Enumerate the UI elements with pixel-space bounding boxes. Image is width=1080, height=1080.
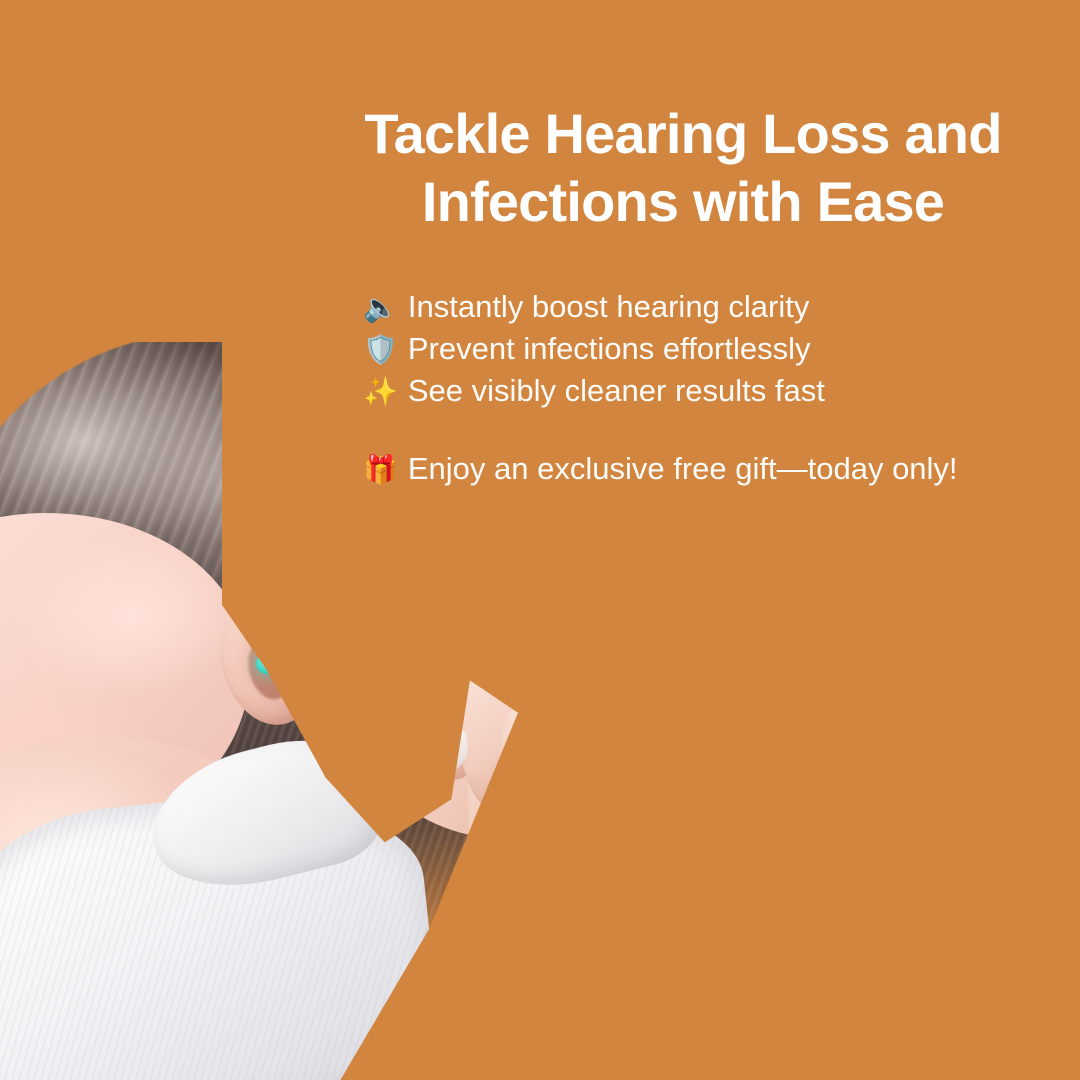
child-arm: [0, 705, 323, 1080]
benefit-text-2: Prevent infections effortlessly: [408, 328, 811, 369]
ad-copy-block: Tackle Hearing Loss and Infections with …: [363, 0, 1023, 1080]
benefit-item-3: ✨ See visibly cleaner results fast: [363, 370, 1003, 412]
benefit-text-1: Instantly boost hearing clarity: [408, 286, 810, 327]
child-face: [0, 492, 266, 862]
benefits-list: 🔈 Instantly boost hearing clarity 🛡️ Pre…: [363, 286, 1003, 412]
child-shirt-collar: [137, 722, 392, 906]
sparkles-icon: ✨: [363, 371, 398, 412]
offer-line: 🎁 Enjoy an exclusive free gift—today onl…: [363, 448, 1023, 491]
device-probe-led-tip: [254, 650, 283, 676]
benefit-item-2: 🛡️ Prevent infections effortlessly: [363, 328, 1003, 370]
headline: Tackle Hearing Loss and Infections with …: [363, 100, 1003, 236]
speaker-icon: 🔈: [363, 287, 398, 328]
headline-line-2: Infections with Ease: [363, 168, 1003, 236]
offer-text: Enjoy an exclusive free gift—today only!: [408, 448, 958, 490]
shield-icon: 🛡️: [363, 329, 398, 370]
gift-icon: 🎁: [363, 449, 398, 491]
headline-line-1: Tackle Hearing Loss and: [364, 102, 1001, 165]
benefit-item-1: 🔈 Instantly boost hearing clarity: [363, 286, 1003, 328]
benefit-text-3: See visibly cleaner results fast: [408, 370, 825, 411]
advertisement-creative: Tackle Hearing Loss and Infections with …: [0, 0, 1080, 1080]
child-ear: [211, 592, 325, 733]
